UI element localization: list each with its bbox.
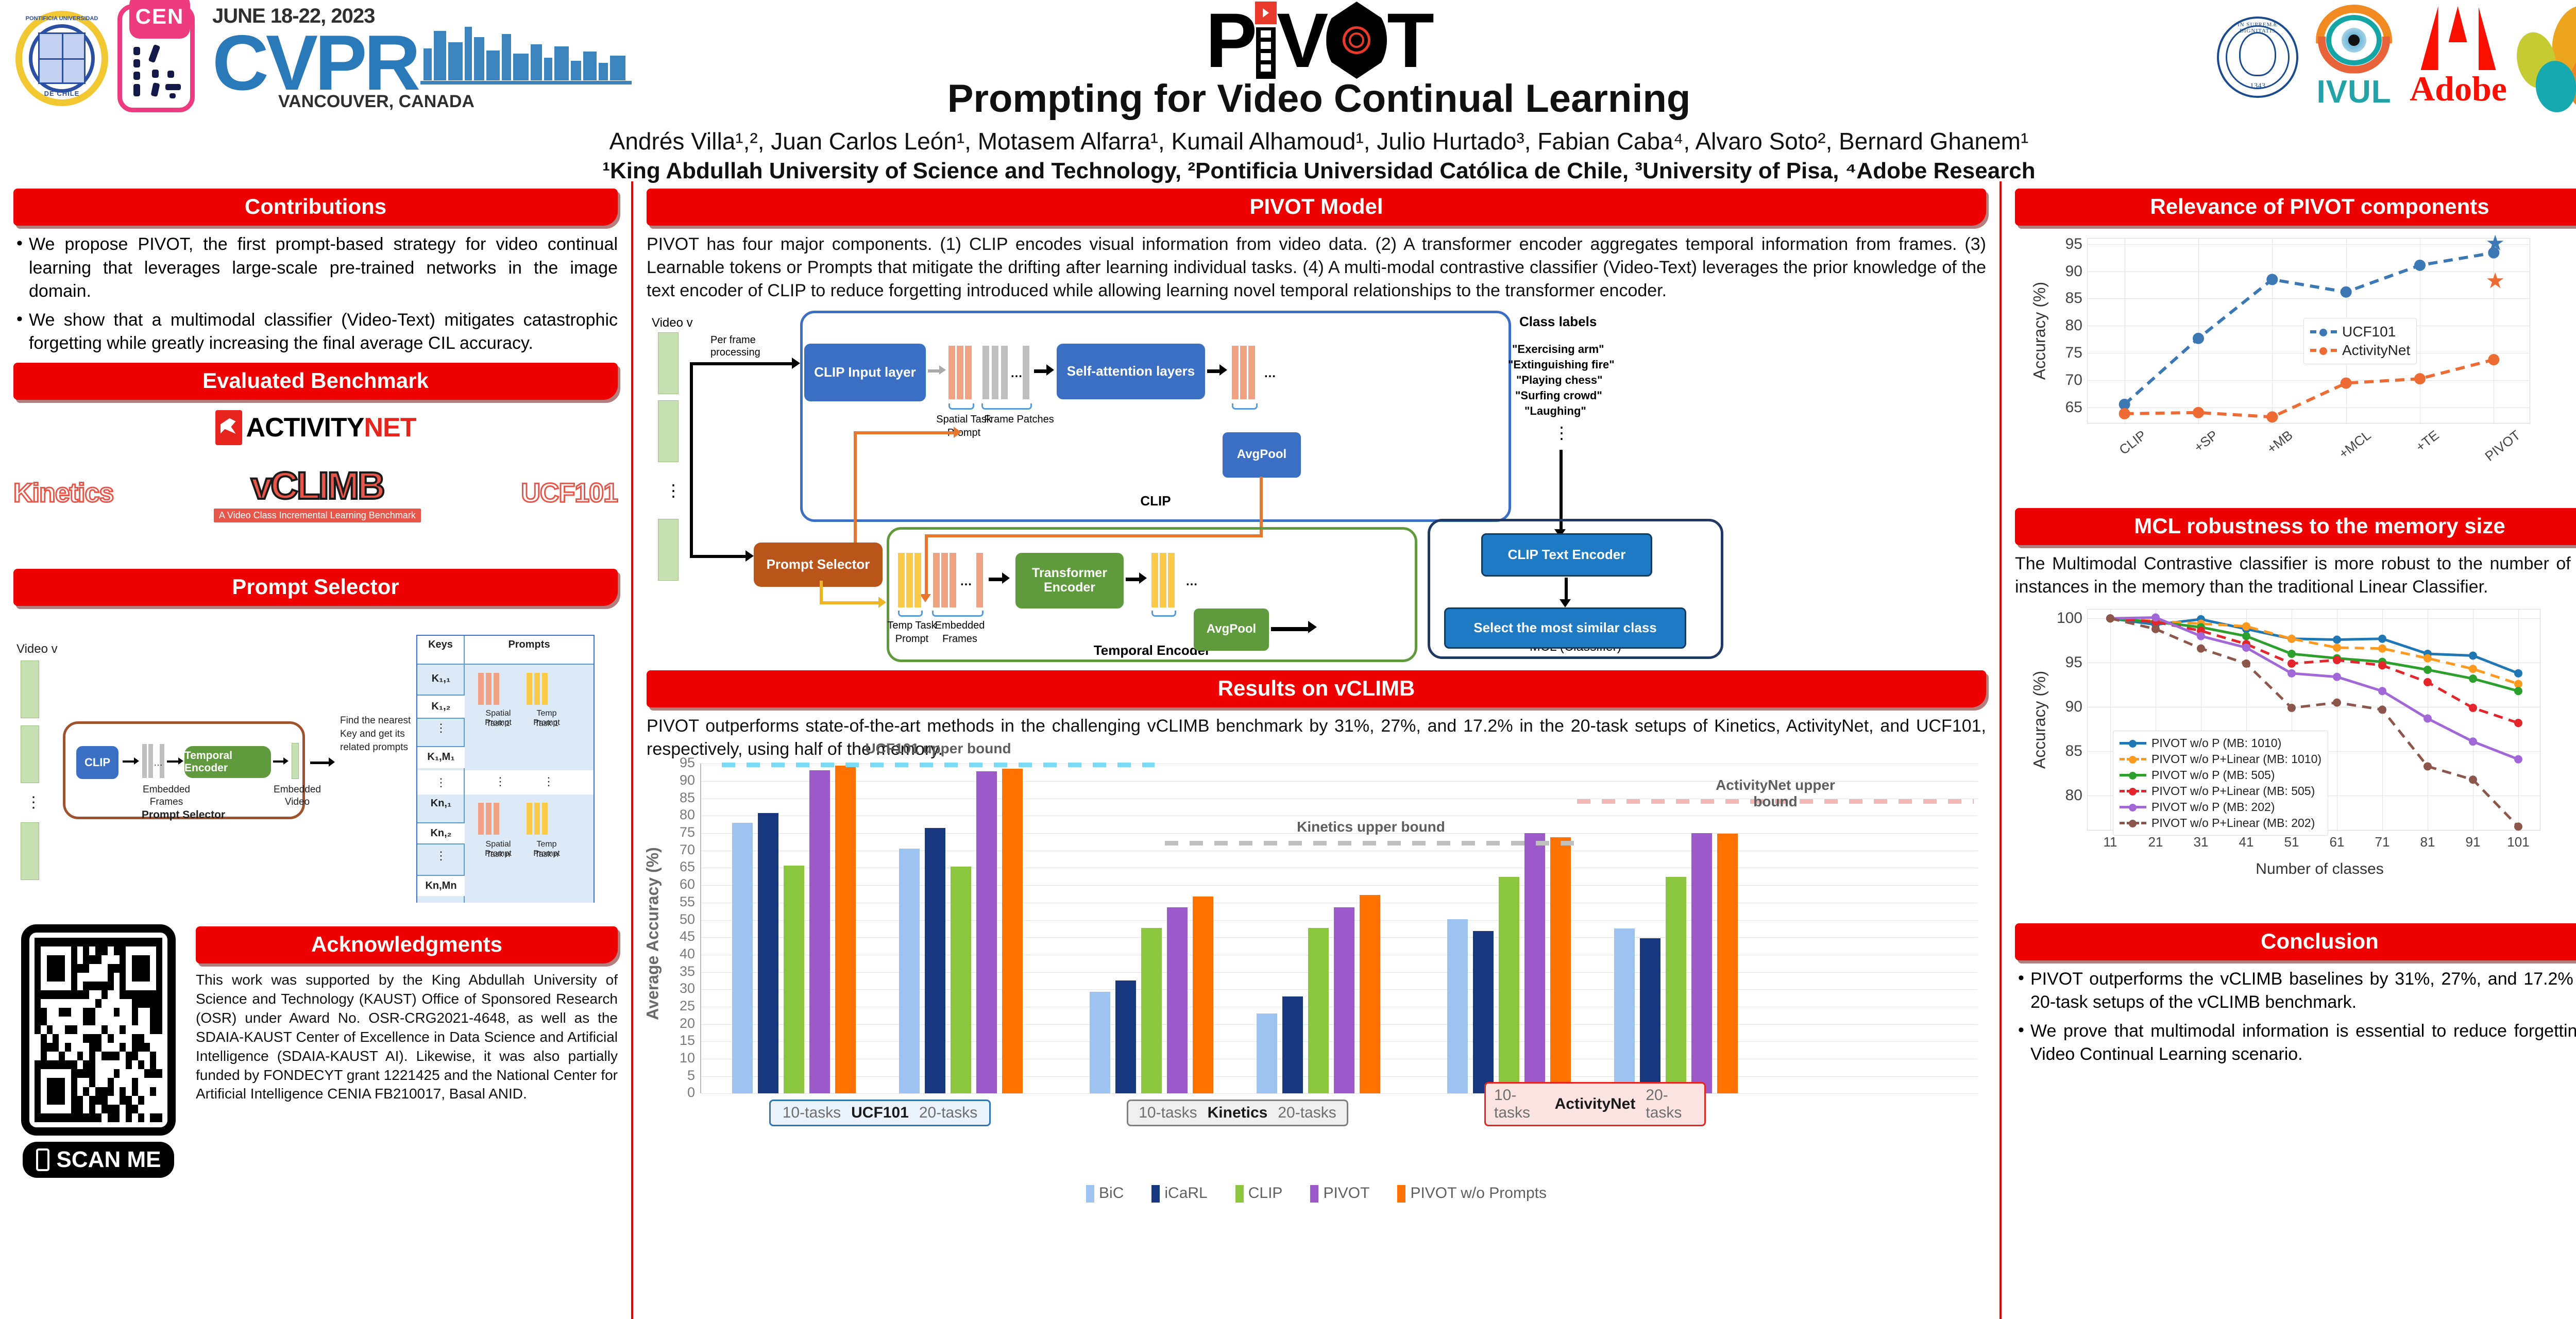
activitynet-label-1: ACTIVITY	[246, 413, 364, 443]
bar-clip	[951, 867, 971, 1093]
ivul-label: IVUL	[2316, 74, 2391, 110]
ps-spatial-taskn-l2: Task n	[475, 850, 521, 859]
adobe-logo: Adobe	[2410, 3, 2576, 111]
diag-per-frame-l2: processing	[710, 347, 760, 359]
x-axis-tick: 51	[2284, 834, 2299, 850]
scan-me-label: SCAN ME	[57, 1147, 161, 1173]
y-axis-tick: 85	[680, 790, 695, 806]
upper-bound-line	[1165, 841, 1577, 845]
right-logo-group: IN SUPREMÆ DIGNITATIS 1343 IVUL Adobe	[2217, 3, 2576, 111]
affiliation-list: ¹King Abdullah University of Science and…	[0, 158, 2576, 184]
upper-bound-label: UCF101 upper bound	[861, 740, 1015, 757]
y-axis-tick: 40	[680, 946, 695, 962]
x-axis-tick: +MB	[2264, 427, 2296, 457]
ps-box-label: Prompt Selector	[137, 809, 230, 821]
diag-clip-text-encoder: CLIP Text Encoder	[1481, 533, 1652, 577]
diag-embedded-frames-l1: Embedded	[929, 620, 991, 632]
title-block: P V T Prompting for Video Continual Lear…	[0, 1, 2576, 184]
diag-prompt-selector-node: Prompt Selector	[754, 543, 883, 587]
bar-bic	[732, 823, 753, 1093]
section-header-acknowledgments: Acknowledgments	[196, 926, 618, 963]
legend-item-pivot-w-o-prompts: PIVOT w/o Prompts	[1397, 1185, 1547, 1203]
robustness-text: The Multimodal Contrastive classifier is…	[2015, 552, 2576, 599]
upper-bound-label: ActivityNet upper bound	[1698, 777, 1853, 810]
y-axis-tick: 70	[680, 842, 695, 858]
legend-item-icarl: iCaRL	[1151, 1185, 1207, 1203]
y-axis-tick: 90	[680, 772, 695, 788]
y-axis-tick: 90	[2065, 263, 2082, 280]
x-axis-tick: 11	[2104, 834, 2117, 850]
y-axis-tick: 70	[2065, 371, 2082, 389]
list-item: PIVOT outperforms the vCLIMB baselines b…	[2015, 968, 2576, 1014]
legend-item-clip: CLIP	[1235, 1185, 1283, 1203]
adobe-a-icon	[2420, 3, 2497, 70]
upper-bound-label: Kinetics upper bound	[1294, 819, 1448, 835]
kinetics-label: Kinetics	[13, 478, 113, 509]
y-axis-tick: 5	[687, 1068, 695, 1084]
bar-chart-legend: BiCiCaRLCLIPPIVOTPIVOT w/o Prompts	[647, 1185, 1986, 1203]
ps-find-nearest-l2: Key and get its	[340, 729, 405, 740]
activitynet-label-2: NET	[364, 413, 416, 443]
ps-spatial-task1-l2: Task 1	[475, 719, 521, 729]
ps-key-6: Kn,₂	[417, 822, 465, 844]
vclimb-label: vCLIMB	[214, 464, 421, 508]
ps-key-4: ⋮	[417, 776, 465, 789]
diag-clip-box-label: CLIP	[800, 493, 1511, 509]
pivot-logo-p: P	[1206, 2, 1255, 79]
ivul-eye-icon	[2316, 5, 2392, 76]
y-axis-tick: 80	[680, 807, 695, 823]
y-axis-tick: 25	[680, 998, 695, 1014]
y-axis-tick: 95	[2065, 654, 2082, 671]
diag-clip-input-layer: CLIP Input layer	[804, 344, 926, 401]
legend-item: ActivityNet	[2310, 341, 2410, 360]
dataset-group-label: 10-tasksKinetics20-tasks	[1127, 1100, 1348, 1126]
ps-find-nearest-l3: related prompts	[340, 742, 408, 753]
star-marker: ★	[2485, 270, 2505, 292]
bar-icarl	[1282, 996, 1303, 1094]
section-header-contributions: Contributions	[13, 189, 618, 226]
bar-icarl	[925, 828, 945, 1093]
pivot-film-strip-icon	[1255, 2, 1277, 79]
diag-class-label-2: "Playing chess"	[1516, 374, 1603, 387]
gridline	[701, 903, 1978, 903]
section-header-relevance: Relevance of PIVOT components	[2015, 189, 2576, 226]
legend-item: PIVOT w/o P (MB: 202)	[2120, 799, 2321, 815]
pivot-logo-icon: P V T	[1206, 1, 1432, 79]
ps-embedded-video-l2: Video	[269, 797, 326, 808]
ps-key-0: K₁,₁	[417, 665, 465, 685]
diag-frame-patches: Frame Patches	[980, 414, 1058, 426]
x-axis-tick: 31	[2194, 834, 2209, 850]
bar-bic	[1090, 992, 1110, 1093]
bar-icarl	[1115, 980, 1136, 1094]
ps-clip-node: CLIP	[76, 746, 118, 779]
ps-embedded-frames-l1: Embedded	[133, 784, 200, 796]
diag-embedded-frames-l2: Frames	[929, 633, 991, 645]
group-dataset-name: ActivityNet	[1555, 1095, 1636, 1113]
gridline	[701, 816, 1978, 816]
diag-class-label-3: "Surfing crowd"	[1515, 389, 1602, 402]
bar-icarl	[1640, 938, 1660, 1094]
diag-transformer-l1: Transformer	[1032, 566, 1107, 580]
group-tasks-left: 10-tasks	[1139, 1104, 1197, 1122]
section-header-prompt-selector: Prompt Selector	[13, 569, 618, 606]
bar-clip	[1141, 928, 1162, 1093]
university-of-pisa-seal-icon: IN SUPREMÆ DIGNITATIS 1343	[2217, 16, 2298, 98]
section-header-conclusion: Conclusion	[2015, 923, 2576, 960]
group-tasks-right: 20-tasks	[1646, 1087, 1696, 1122]
y-axis-tick: 45	[680, 928, 695, 944]
dataset-group-label: 10-tasksUCF10120-tasks	[769, 1100, 991, 1126]
pivot-logo-v: V	[1277, 2, 1326, 79]
dataset-group-label: 10-tasksActivityNet20-tasks	[1484, 1082, 1706, 1126]
vclimb-subtitle: A Video Class Incremental Learning Bench…	[214, 509, 421, 522]
poster-header: PONTIFICIA UNIVERSIDAD DE CHILE CEN	[0, 0, 2576, 178]
legend-item-bic: BiC	[1086, 1185, 1124, 1203]
gridline	[701, 868, 1978, 868]
x-axis-label: Number of classes	[2015, 860, 2576, 878]
diag-select-class-node: Select the most similar class	[1444, 607, 1686, 649]
ps-key-8: Kn,Mn	[417, 875, 465, 896]
gridline	[701, 1093, 1978, 1094]
star-marker: ★	[2485, 232, 2505, 254]
y-axis-label: Accuracy (%)	[2030, 282, 2049, 380]
bar-pivot-w-o-prompts	[835, 766, 856, 1094]
diag-per-frame-l1: Per frame	[710, 334, 756, 346]
diag-clip-box	[800, 311, 1511, 522]
x-axis-tick: 81	[2420, 834, 2435, 850]
y-axis-tick: 95	[2065, 235, 2082, 253]
ps-temp-task1-l2: Task 1	[523, 719, 570, 729]
y-axis-label: Accuracy (%)	[2030, 671, 2049, 769]
x-axis-tick: 101	[2507, 834, 2529, 850]
x-axis-tick: 61	[2330, 834, 2345, 850]
diag-temporal-avgpool: AvgPool	[1194, 608, 1269, 651]
pivot-aperture-icon	[1326, 2, 1387, 79]
phone-icon	[36, 1148, 49, 1171]
group-dataset-name: Kinetics	[1208, 1104, 1268, 1122]
acknowledgments-block: SCAN ME Acknowledgments This work was su…	[13, 924, 618, 1178]
vclimb-logo-icon: vCLIMB A Video Class Incremental Learnin…	[214, 464, 421, 522]
adobe-label: Adobe	[2410, 71, 2507, 106]
y-axis-tick: 95	[680, 755, 695, 771]
section-header-results: Results on vCLIMB	[647, 670, 1986, 707]
ucf101-label: UCF101	[521, 478, 618, 509]
bar-pivot	[1167, 907, 1188, 1093]
y-axis-tick: 75	[680, 824, 695, 840]
legend-item: PIVOT w/o P+Linear (MB: 1010)	[2120, 751, 2321, 767]
ps-find-nearest-l1: Find the nearest	[340, 715, 411, 726]
y-axis-tick: 85	[2065, 290, 2082, 307]
ps-video-label: Video v	[16, 642, 58, 656]
ps-table-header-keys: Keys	[417, 636, 465, 664]
bar-bic	[1447, 919, 1468, 1093]
legend-item: PIVOT w/o P (MB: 1010)	[2120, 735, 2321, 751]
bar-clip	[1308, 928, 1329, 1093]
diag-class-label-0: "Exercising arm"	[1512, 343, 1604, 356]
diag-class-label-1: "Extinguishing fire"	[1508, 358, 1615, 371]
section-header-benchmark: Evaluated Benchmark	[13, 363, 618, 400]
kaust-petals-icon	[2514, 3, 2576, 111]
diag-class-label-4: "Laughing"	[1524, 404, 1586, 418]
legend-item: PIVOT w/o P (MB: 505)	[2120, 767, 2321, 783]
bar-pivot	[1334, 907, 1354, 1093]
group-tasks-left: 10-tasks	[783, 1104, 841, 1122]
y-axis-tick: 50	[680, 911, 695, 927]
diag-clip-avgpool: AvgPool	[1223, 432, 1301, 478]
pivot-logo-t: T	[1387, 2, 1432, 79]
ps-embedded-frames-l2: Frames	[133, 797, 200, 808]
y-axis-tick: 80	[2065, 317, 2082, 334]
pisa-year: 1343	[2219, 82, 2296, 91]
y-axis-tick: 20	[680, 1016, 695, 1031]
bar-pivot	[976, 771, 997, 1094]
ps-key-prompt-table: Keys Prompts K₁,₁ K₁,₂ ⋮ K₁,M₁ ⋮ Kn,₁ Kn…	[416, 635, 595, 903]
ps-key-5: Kn,₁	[417, 798, 465, 809]
bar-clip	[1666, 877, 1686, 1093]
y-axis-tick: 85	[2065, 742, 2082, 760]
bar-bic	[1257, 1013, 1277, 1093]
author-list: Andrés Villa¹,², Juan Carlos León¹, Mota…	[0, 127, 2576, 155]
vclimb-bar-chart: Average Accuracy (%) 0510152025303540455…	[647, 764, 1986, 1171]
x-axis-tick: 71	[2375, 834, 2390, 850]
diag-transformer-encoder-node: TransformerEncoder	[1015, 553, 1124, 608]
y-axis-tick: 15	[680, 1033, 695, 1049]
group-tasks-right: 20-tasks	[919, 1104, 977, 1122]
mcl-robustness-line-chart: 11213141516171819110180859095100Accuracy…	[2015, 607, 2576, 916]
contributions-list: We propose PIVOT, the first prompt-based…	[13, 233, 618, 356]
ps-key-1: K₁,₂	[417, 695, 465, 719]
legend-item-pivot: PIVOT	[1310, 1185, 1369, 1203]
ps-key-2: ⋮	[417, 721, 465, 735]
bar-pivot	[809, 770, 830, 1093]
diag-self-attention-layers: Self-attention layers	[1057, 344, 1205, 399]
bar-pivot	[1691, 833, 1712, 1093]
ivul-logo: IVUL	[2316, 5, 2392, 110]
y-axis-tick: 55	[680, 894, 695, 910]
legend-item: PIVOT w/o P+Linear (MB: 202)	[2120, 815, 2321, 831]
bar-pivot	[1524, 833, 1545, 1093]
relevance-line-chart: CLIP+SP+MB+MCL+TEPIVOT65707580859095★★Ac…	[2015, 233, 2576, 501]
bar-icarl	[758, 813, 778, 1093]
y-axis-tick: 65	[680, 859, 695, 875]
bar-bic	[1614, 928, 1635, 1094]
left-column: Contributions We propose PIVOT, the firs…	[0, 181, 631, 1319]
y-axis-tick: 65	[2065, 399, 2082, 416]
x-axis-tick: +TE	[2413, 427, 2442, 455]
y-axis-tick: 80	[2065, 787, 2082, 804]
bar-pivot-w-o-prompts	[1360, 895, 1380, 1093]
ps-temp-taskn-l2: Task n	[523, 850, 570, 859]
bar-pivot-w-o-prompts	[1550, 837, 1571, 1093]
qr-code-icon[interactable]	[21, 924, 176, 1136]
bar-icarl	[1473, 931, 1494, 1093]
ps-temporal-encoder-node: Temporal Encoder	[184, 746, 271, 778]
x-axis-tick: CLIP	[2116, 427, 2149, 458]
list-item: We prove that multimodal information is …	[2015, 1020, 2576, 1067]
y-axis-tick: 35	[680, 963, 695, 979]
x-axis-tick: 21	[2148, 834, 2163, 850]
pisa-motto: IN SUPREMÆ DIGNITATIS	[2219, 22, 2296, 34]
section-header-pivot-model: PIVOT Model	[647, 189, 1986, 226]
legend-item: PIVOT w/o P+Linear (MB: 505)	[2120, 783, 2321, 799]
diag-video-label: Video v	[652, 316, 693, 330]
ps-key-3: K₁,M₁	[417, 746, 465, 768]
group-tasks-left: 10-tasks	[1494, 1087, 1545, 1122]
scan-me-badge: SCAN ME	[23, 1142, 175, 1178]
bar-chart-ylabel: Average Accuracy (%)	[643, 848, 663, 1021]
group-tasks-right: 20-tasks	[1278, 1104, 1336, 1122]
upper-bound-line	[722, 763, 1155, 767]
prompt-selector-figure: Video v ⋮ CLIP … Temporal Encoder	[13, 613, 618, 922]
bar-pivot-w-o-prompts	[1717, 834, 1738, 1093]
bar-bic	[899, 849, 920, 1093]
right-column: Relevance of PIVOT components CLIP+SP+MB…	[2002, 181, 2576, 1319]
middle-column: PIVOT Model PIVOT has four major compone…	[631, 181, 2002, 1319]
conclusion-list: PIVOT outperforms the vCLIMB baselines b…	[2015, 968, 2576, 1067]
legend-item: UCF101	[2310, 323, 2410, 341]
ps-embedded-video-l1: Embedded	[269, 784, 326, 796]
y-axis-tick: 30	[680, 980, 695, 996]
results-text: PIVOT outperforms state-of-the-art metho…	[647, 715, 1986, 761]
bar-clip	[1499, 877, 1519, 1093]
gridline	[701, 885, 1978, 886]
benchmark-logos: ACTIVITYNET Kinetics vCLIMB A Video Clas…	[13, 407, 618, 562]
acknowledgments-text: This work was supported by the King Abdu…	[196, 971, 618, 1104]
activitynet-logo-icon: ACTIVITYNET	[215, 410, 416, 445]
bar-pivot-w-o-prompts	[1193, 897, 1213, 1094]
x-axis-tick: 41	[2239, 834, 2254, 850]
y-axis-tick: 100	[2057, 610, 2082, 627]
pivot-architecture-diagram: Video v ⋮ Per frame processing CLIP CLIP…	[647, 302, 1986, 663]
poster-root: PONTIFICIA UNIVERSIDAD DE CHILE CEN	[0, 0, 2576, 1319]
group-dataset-name: UCF101	[851, 1104, 909, 1122]
diag-class-labels-title: Class labels	[1519, 314, 1597, 330]
section-header-robustness: MCL robustness to the memory size	[2015, 508, 2576, 545]
pivot-model-text: PIVOT has four major components. (1) CLI…	[647, 233, 1986, 302]
x-axis-tick: 91	[2466, 834, 2481, 850]
y-axis-tick: 60	[680, 876, 695, 892]
x-axis-tick: +SP	[2191, 427, 2221, 455]
y-axis-tick: 90	[2065, 698, 2082, 716]
y-axis-tick: 75	[2065, 344, 2082, 362]
list-item: We show that a multimodal classifier (Vi…	[13, 309, 618, 356]
page-title: Prompting for Video Continual Learning	[0, 76, 2576, 121]
ps-key-7: ⋮	[417, 849, 465, 863]
x-axis-tick: PIVOT	[2482, 427, 2524, 464]
y-axis-tick: 10	[680, 1050, 695, 1066]
ps-table-header-prompts: Prompts	[465, 636, 594, 664]
bar-clip	[784, 866, 804, 1093]
diag-transformer-l2: Encoder	[1044, 580, 1095, 595]
y-axis-tick: 0	[687, 1085, 695, 1101]
x-axis-tick: +MCL	[2335, 427, 2374, 462]
bar-pivot-w-o-prompts	[1002, 769, 1023, 1094]
list-item: We propose PIVOT, the first prompt-based…	[13, 233, 618, 303]
gridline	[701, 851, 1978, 851]
